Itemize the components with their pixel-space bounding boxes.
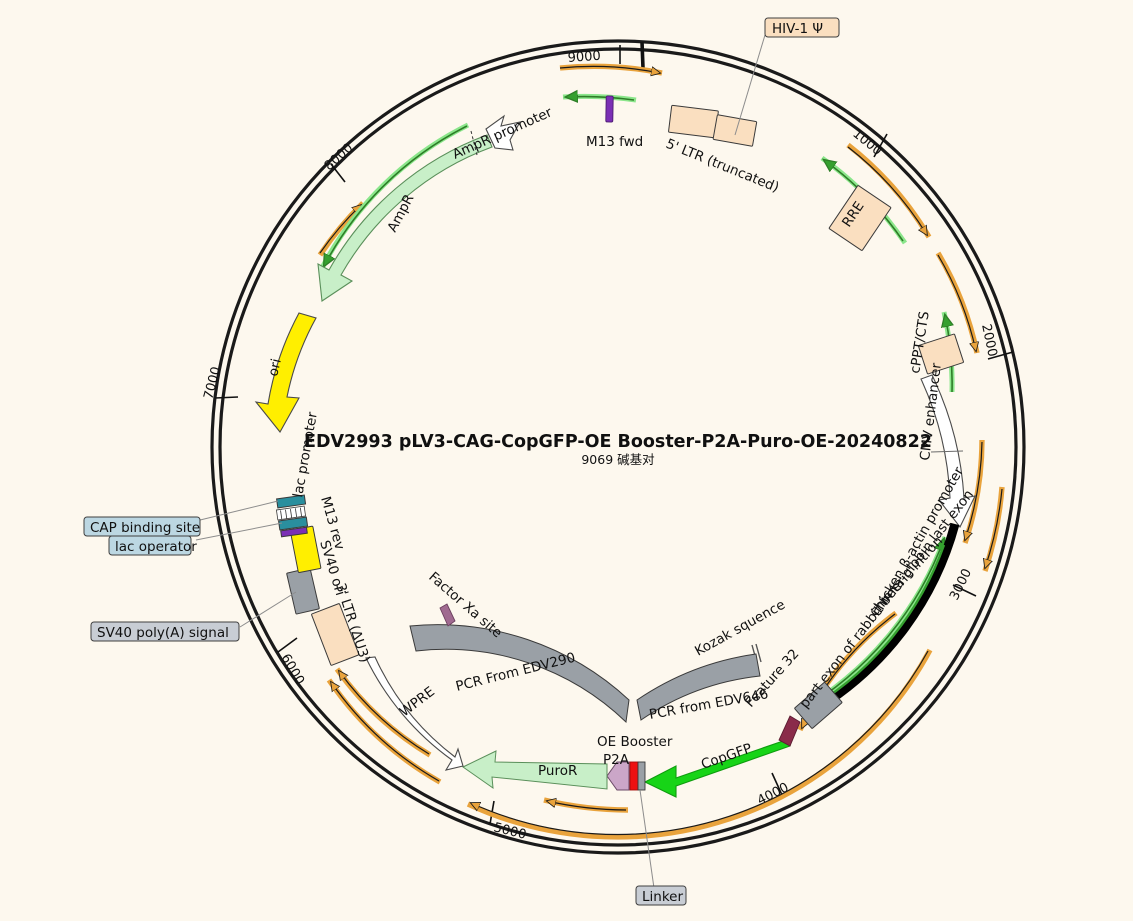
callout-hiv1-psi[interactable]: HIV-1 Ψ: [765, 18, 839, 37]
label-p2a: P2A: [603, 752, 630, 768]
callout-sv40-polya-signal[interactable]: SV40 poly(A) signal: [91, 622, 239, 641]
plasmid-length: 9069 碱基对: [581, 452, 654, 467]
feature-five-prime-ltr-a[interactable]: [668, 105, 718, 138]
feature-m13-fwd[interactable]: [606, 96, 613, 122]
callout-linker-label: Linker: [642, 889, 683, 905]
label-oe-booster: OE Booster: [597, 734, 673, 750]
callout-sv40-polya-signal-label: SV40 poly(A) signal: [97, 625, 229, 641]
origin-tick: [642, 42, 643, 68]
callout-linker[interactable]: Linker: [636, 886, 686, 905]
callout-cap-binding-site-label: CAP binding site: [90, 520, 200, 536]
plasmid-map: 1000 2000 3000 4000 5000 6000 7000 8000 …: [0, 0, 1133, 921]
page-title: EDV2993 pLV3-CAG-CopGFP-OE Booster-P2A-P…: [304, 432, 932, 452]
callout-lac-operator-label: lac operator: [115, 539, 197, 555]
label-puror: PuroR: [538, 763, 577, 779]
callout-lac-operator[interactable]: lac operator: [109, 536, 197, 555]
feature-oe-booster[interactable]: [638, 762, 645, 790]
label-m13-fwd: M13 fwd: [586, 134, 643, 150]
tick-label-9000: 9000: [567, 49, 601, 66]
callout-hiv1-psi-label: HIV-1 Ψ: [772, 21, 823, 37]
callout-cap-binding-site[interactable]: CAP binding site: [84, 517, 200, 536]
feature-linker[interactable]: [630, 762, 638, 790]
